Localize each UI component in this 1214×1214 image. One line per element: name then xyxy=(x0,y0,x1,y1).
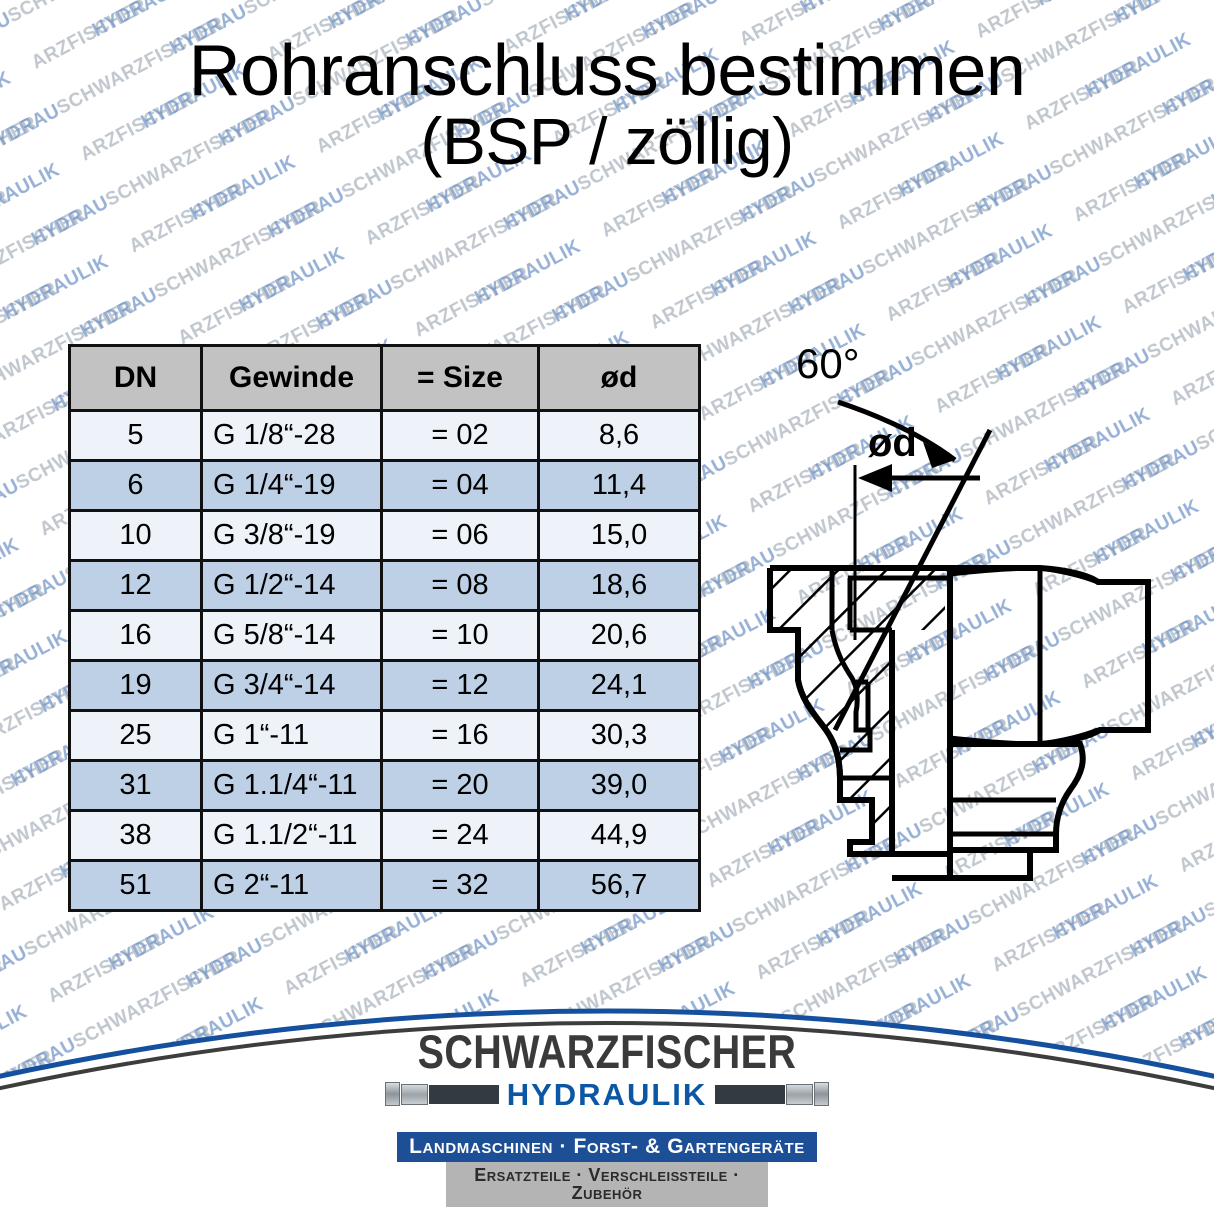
cell-dn: 10 xyxy=(70,511,202,561)
table-row: 5G 1/8“-28= 028,6 xyxy=(70,411,700,461)
hose-fitting-right xyxy=(715,1081,829,1107)
cell-gewinde: G 3/4“-14 xyxy=(202,661,382,711)
cell-od: 20,6 xyxy=(539,611,700,661)
column-header-size: = Size xyxy=(382,346,539,411)
cell-od: 18,6 xyxy=(539,561,700,611)
hose-nut-left xyxy=(401,1084,428,1105)
cell-od: 15,0 xyxy=(539,511,700,561)
fitting-cross-section-drawing: 60° ød xyxy=(740,330,1214,900)
cell-od: 30,3 xyxy=(539,711,700,761)
table-row: 19G 3/4“-14= 1224,1 xyxy=(70,661,700,711)
angle-label: 60° xyxy=(796,340,860,387)
thread-size-table: DN Gewinde = Size ød 5G 1/8“-28= 028,66G… xyxy=(68,344,701,912)
hose-nut-right xyxy=(786,1084,813,1105)
cell-gewinde: G 5/8“-14 xyxy=(202,611,382,661)
hose-hex-end-left xyxy=(385,1082,400,1106)
cell-dn: 19 xyxy=(70,661,202,711)
cell-size: = 04 xyxy=(382,461,539,511)
cell-gewinde: G 1“-11 xyxy=(202,711,382,761)
table-row: 6G 1/4“-19= 0411,4 xyxy=(70,461,700,511)
cell-gewinde: G 2“-11 xyxy=(202,861,382,911)
hose-body-right xyxy=(715,1085,785,1104)
cell-size: = 12 xyxy=(382,661,539,711)
table-row: 16G 5/8“-14= 1020,6 xyxy=(70,611,700,661)
tagline-block: Landmaschinen · Forst- & Gartengeräte Er… xyxy=(0,1108,1214,1207)
tagline-secondary: Ersatzteile · Verschleißteile · Zubehör xyxy=(446,1162,768,1207)
cell-dn: 51 xyxy=(70,861,202,911)
poster-canvas: SCHWARZFISCHER HYDRAULIK SCHWARZFISCHER … xyxy=(0,0,1214,1214)
cell-dn: 12 xyxy=(70,561,202,611)
hose-body-left xyxy=(429,1085,499,1104)
hose-hex-end-right xyxy=(814,1082,829,1106)
cell-dn: 16 xyxy=(70,611,202,661)
column-header-dn: DN xyxy=(70,346,202,411)
cell-dn: 5 xyxy=(70,411,202,461)
cell-size: = 08 xyxy=(382,561,539,611)
tagline-primary: Landmaschinen · Forst- & Gartengeräte xyxy=(397,1132,817,1162)
table-row: 31G 1.1/4“-11= 2039,0 xyxy=(70,761,700,811)
cell-size: = 10 xyxy=(382,611,539,661)
table-row: 38G 1.1/2“-11= 2444,9 xyxy=(70,811,700,861)
column-header-gewinde: Gewinde xyxy=(202,346,382,411)
table-row: 51G 2“-11= 3256,7 xyxy=(70,861,700,911)
cell-od: 39,0 xyxy=(539,761,700,811)
cell-size: = 16 xyxy=(382,711,539,761)
page-title: Rohranschluss bestimmen (BSP / zöllig) xyxy=(0,34,1214,176)
title-line-1: Rohranschluss bestimmen xyxy=(0,34,1214,108)
table-row: 25G 1“-11= 1630,3 xyxy=(70,711,700,761)
hose-fitting-left xyxy=(385,1081,499,1107)
logo-wordmark: SCHWARZFISCHER xyxy=(97,1028,1117,1075)
column-header-od: ød xyxy=(539,346,700,411)
table-row: 12G 1/2“-14= 0818,6 xyxy=(70,561,700,611)
cell-size: = 20 xyxy=(382,761,539,811)
cell-size: = 24 xyxy=(382,811,539,861)
cell-gewinde: G 1/4“-19 xyxy=(202,461,382,511)
table-row: 10G 3/8“-19= 0615,0 xyxy=(70,511,700,561)
table-header-row: DN Gewinde = Size ød xyxy=(70,346,700,411)
cell-od: 56,7 xyxy=(539,861,700,911)
cell-gewinde: G 3/8“-19 xyxy=(202,511,382,561)
logo-hydraulik-text: HYDRAULIK xyxy=(507,1079,708,1110)
cell-size: = 32 xyxy=(382,861,539,911)
cell-od: 24,1 xyxy=(539,661,700,711)
cell-gewinde: G 1.1/2“-11 xyxy=(202,811,382,861)
logo-hose-graphic: HYDRAULIK xyxy=(0,1080,1214,1108)
cell-dn: 38 xyxy=(70,811,202,861)
cell-gewinde: G 1.1/4“-11 xyxy=(202,761,382,811)
cell-od: 11,4 xyxy=(539,461,700,511)
cell-dn: 31 xyxy=(70,761,202,811)
cell-gewinde: G 1/8“-28 xyxy=(202,411,382,461)
cell-size: = 02 xyxy=(382,411,539,461)
cell-dn: 25 xyxy=(70,711,202,761)
diameter-label: ød xyxy=(868,421,917,465)
company-logo: SCHWARZFISCHER HYDRAULIK Landmaschinen ·… xyxy=(0,1028,1214,1207)
cell-gewinde: G 1/2“-14 xyxy=(202,561,382,611)
cell-size: = 06 xyxy=(382,511,539,561)
cell-od: 44,9 xyxy=(539,811,700,861)
cell-dn: 6 xyxy=(70,461,202,511)
title-line-2: (BSP / zöllig) xyxy=(0,108,1214,176)
cell-od: 8,6 xyxy=(539,411,700,461)
